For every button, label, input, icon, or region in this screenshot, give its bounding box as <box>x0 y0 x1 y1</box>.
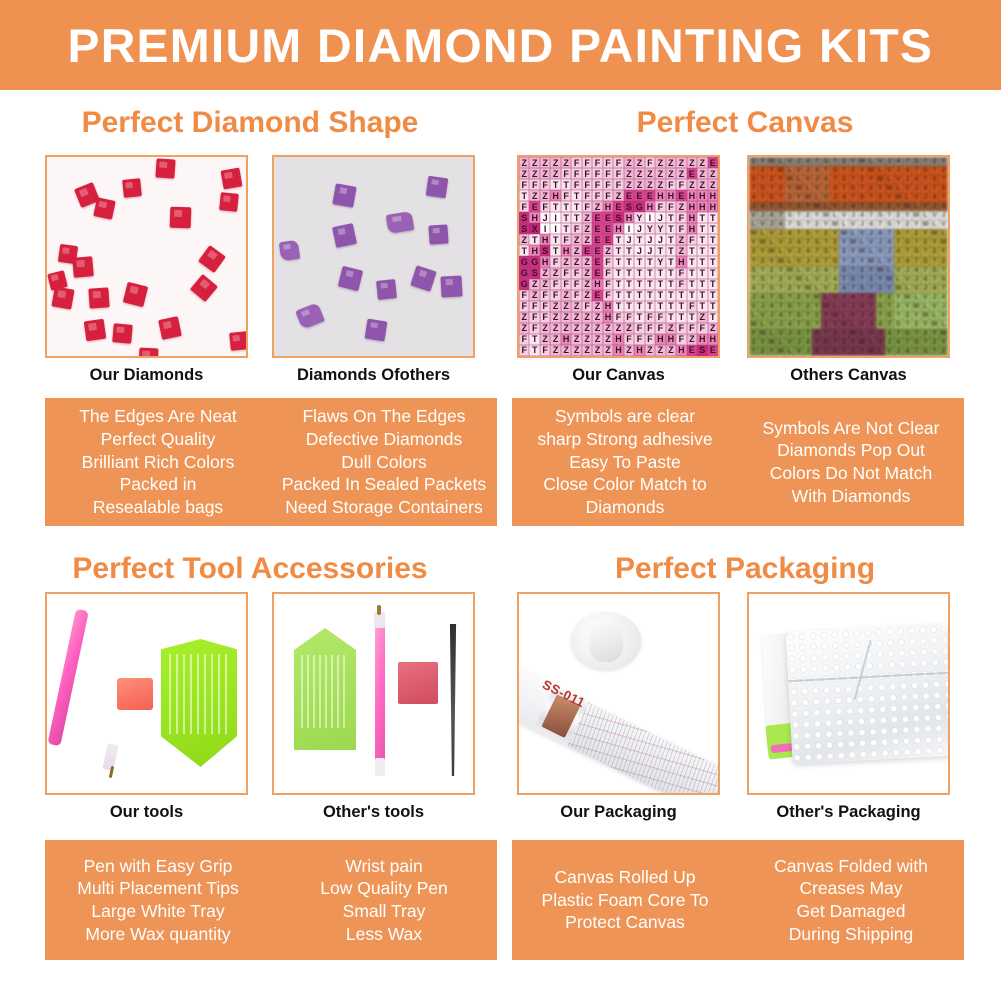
canvas-symbol-cell: S <box>912 338 921 347</box>
canvas-symbol-cell: F <box>571 157 581 168</box>
canvas-symbol-cell: T <box>708 268 718 279</box>
canvas-symbol-cell: 2 <box>930 157 939 166</box>
canvas-symbol-cell: L <box>794 266 803 275</box>
canvas-symbol-cell: 2 <box>785 284 794 293</box>
canvas-symbol-cell: 7 <box>803 238 812 247</box>
canvas-symbol-cell: H <box>613 345 623 356</box>
canvas-symbol-cell: Z <box>571 323 581 334</box>
canvas-symbol-cell: ? <box>767 184 776 193</box>
canvas-symbol-cell: H <box>708 201 718 212</box>
panel-line: Dull Colors <box>341 451 427 474</box>
canvas-symbol-cell: 2 <box>794 293 803 302</box>
canvas-symbol-cell: 2 <box>839 247 848 256</box>
canvas-symbol-cell: V <box>930 302 939 311</box>
canvas-symbol-cell: J <box>794 247 803 256</box>
canvas-symbol-cell: F <box>603 168 613 179</box>
canvas-symbol-cell: L <box>785 166 794 175</box>
canvas-symbol-cell: ? <box>839 257 848 266</box>
canvas-symbol-cell: T <box>624 268 634 279</box>
canvas-symbol-cell: F <box>603 268 613 279</box>
canvas-symbol-cell: ? <box>849 266 858 275</box>
panel-line: Get Damaged <box>797 900 906 923</box>
canvas-symbol-cell: S <box>912 247 921 256</box>
canvas-symbol-cell: 4 <box>903 257 912 266</box>
panel-line: With Diamonds <box>792 485 911 508</box>
canvas-symbol-cell: 7 <box>885 320 894 329</box>
canvas-symbol-cell: G <box>519 268 529 279</box>
canvas-symbol-cell: T <box>519 245 529 256</box>
canvas-symbol-cell: Y <box>776 175 785 184</box>
canvas-symbol-cell: F <box>676 223 686 234</box>
canvas-symbol-cell: 4 <box>885 238 894 247</box>
canvas-symbol-cell: Z <box>666 157 676 168</box>
canvas-symbol-cell: L <box>776 157 785 166</box>
canvas-symbol-cell: F <box>676 323 686 334</box>
canvas-symbol-cell: J <box>912 275 921 284</box>
canvas-symbol-cell: T <box>655 290 665 301</box>
canvas-symbol-cell: H <box>687 201 697 212</box>
canvas-symbol-cell: ? <box>894 311 903 320</box>
canvas-symbol-cell: T <box>645 268 655 279</box>
canvas-symbol-cell: 7 <box>912 347 921 356</box>
canvas-symbol-cell: Z <box>529 290 539 301</box>
canvas-symbol-cell: 7 <box>821 166 830 175</box>
canvas-symbol-cell: Y <box>749 238 758 247</box>
canvas-symbol-cell: ? <box>849 175 858 184</box>
canvas-symbol-cell: 2 <box>803 211 812 220</box>
tray-grooves <box>301 655 348 728</box>
canvas-symbol-cell: M <box>876 175 885 184</box>
canvas-symbol-cell: T <box>676 290 686 301</box>
canvas-symbol-cell: Y <box>939 157 948 166</box>
canvas-symbol-cell: M <box>776 347 785 356</box>
canvas-symbol-cell: Y <box>758 247 767 256</box>
canvas-symbol-cell: H <box>613 223 623 234</box>
canvas-symbol-cell: F <box>529 301 539 312</box>
canvas-symbol-cell: V <box>749 211 758 220</box>
panel-line: Brilliant Rich Colors <box>82 451 235 474</box>
canvas-symbol-cell: Z <box>603 345 613 356</box>
canvas-symbol-cell: T <box>697 256 707 267</box>
canvas-symbol-cell: 7 <box>794 229 803 238</box>
canvas-symbol-cell: F <box>592 179 602 190</box>
canvas-symbol-cell: Z <box>687 334 697 345</box>
canvas-symbol-cell: Z <box>571 256 581 267</box>
canvas-symbol-cell: H <box>708 190 718 201</box>
canvas-symbol-cell: Y <box>867 175 876 184</box>
canvas-symbol-cell: Z <box>540 168 550 179</box>
canvas-symbol-cell: H <box>687 190 697 201</box>
panel-line: Resealable bags <box>93 496 223 519</box>
tweezers <box>446 624 460 776</box>
canvas-symbol-cell: H <box>529 245 539 256</box>
canvas-symbol-cell: T <box>697 212 707 223</box>
canvas-symbol-cell: L <box>885 175 894 184</box>
canvas-symbol-cell: F <box>561 234 571 245</box>
canvas-symbol-cell: Z <box>550 268 560 279</box>
canvas-symbol-cell: F <box>571 179 581 190</box>
pink-pen <box>375 624 385 764</box>
panel-line: The Edges Are Neat <box>79 405 237 428</box>
canvas-symbol-cell: T <box>655 268 665 279</box>
canvas-symbol-cell: 4 <box>912 266 921 275</box>
canvas-symbol-cell: V <box>885 347 894 356</box>
photo-other-packaging <box>747 592 950 795</box>
panel-line: Diamonds <box>586 496 665 519</box>
canvas-symbol-cell: 7 <box>794 320 803 329</box>
canvas-symbol-cell: S <box>785 211 794 220</box>
canvas-symbol-cell: T <box>708 212 718 223</box>
canvas-symbol-cell: F <box>592 168 602 179</box>
canvas-symbol-cell: T <box>655 245 665 256</box>
panel-diamond-ours: The Edges Are Neat Perfect Quality Brill… <box>45 398 271 526</box>
canvas-symbol-cell: M <box>912 211 921 220</box>
canvas-symbol-cell: M <box>849 238 858 247</box>
canvas-symbol-cell: Z <box>676 157 686 168</box>
canvas-symbol-cell: 7 <box>921 175 930 184</box>
canvas-symbol-cell: T <box>634 312 644 323</box>
canvas-symbol-cell: 2 <box>885 202 894 211</box>
canvas-symbol-cell: S <box>903 238 912 247</box>
canvas-symbol-cell: 2 <box>803 302 812 311</box>
canvas-symbol-cell: 4 <box>794 238 803 247</box>
canvas-symbol-cell: Y <box>885 284 894 293</box>
canvas-symbol-cell: J <box>785 238 794 247</box>
caption-our-tools: Our tools <box>45 803 248 822</box>
canvas-symbol-cell: 7 <box>785 220 794 229</box>
canvas-symbol-cell: V <box>894 175 903 184</box>
canvas-symbol-cell: I <box>624 223 634 234</box>
canvas-symbol-cell: F <box>676 279 686 290</box>
canvas-symbol-cell: F <box>519 345 529 356</box>
canvas-symbol-cell: S <box>794 220 803 229</box>
canvas-symbol-cell: J <box>939 211 948 220</box>
canvas-symbol-cell: T <box>666 268 676 279</box>
canvas-symbol-cell: L <box>785 347 794 356</box>
canvas-symbol-cell: Z <box>624 179 634 190</box>
canvas-symbol-cell: H <box>592 279 602 290</box>
bubble-mailer-envelope <box>786 624 948 764</box>
canvas-symbol-cell: V <box>803 175 812 184</box>
canvas-symbol-cell: F <box>645 157 655 168</box>
canvas-symbol-cell: 2 <box>849 257 858 266</box>
canvas-symbol-cell: T <box>708 312 718 323</box>
canvas-symbol-cell: H <box>634 345 644 356</box>
canvas-symbol-cell: 2 <box>776 275 785 284</box>
canvas-symbol-cell: V <box>867 329 876 338</box>
panel-line: Colors Do Not Match <box>770 462 932 485</box>
canvas-symbol-cell: T <box>634 279 644 290</box>
canvas-symbol-cell: V <box>830 202 839 211</box>
canvas-symbol-cell: 2 <box>930 338 939 347</box>
canvas-symbol-cell: T <box>697 223 707 234</box>
canvas-symbol-cell: 7 <box>903 247 912 256</box>
canvas-symbol-cell: Z <box>582 212 592 223</box>
canvas-symbol-cell: Z <box>571 312 581 323</box>
canvas-symbol-cell: Z <box>655 345 665 356</box>
canvas-symbol-cell: S <box>921 347 930 356</box>
canvas-symbol-cell: 7 <box>830 175 839 184</box>
canvas-symbol-cell: Y <box>821 220 830 229</box>
canvas-symbol-cell: ? <box>921 157 930 166</box>
canvas-symbol-cell: L <box>776 338 785 347</box>
canvas-symbol-cell: F <box>613 157 623 168</box>
canvas-symbol-cell: J <box>749 202 758 211</box>
canvas-symbol-cell: Z <box>676 168 686 179</box>
canvas-symbol-cell: M <box>903 202 912 211</box>
canvas-symbol-cell: S <box>921 166 930 175</box>
canvas-symbol-cell: J <box>767 311 776 320</box>
canvas-symbol-cell: F <box>634 323 644 334</box>
canvas-symbol-cell: 4 <box>776 311 785 320</box>
canvas-symbol-cell: V <box>803 266 812 275</box>
bubble-mailer-art <box>749 594 948 793</box>
canvas-symbol-cell: Z <box>561 290 571 301</box>
canvas-symbol-cell: T <box>613 245 623 256</box>
canvas-symbol-cell: ? <box>885 211 894 220</box>
canvas-symbol-cell: G <box>529 256 539 267</box>
canvas-symbol-cell: L <box>894 184 903 193</box>
canvas-symbol-cell: F <box>697 323 707 334</box>
canvas-symbol-cell: ? <box>749 166 758 175</box>
panel-line: Flaws On The Edges <box>302 405 465 428</box>
canvas-symbol-cell: L <box>912 202 921 211</box>
canvas-symbol-cell: L <box>876 347 885 356</box>
canvas-symbol-cell: 4 <box>767 302 776 311</box>
canvas-symbol-cell: S <box>858 193 867 202</box>
green-tray-small <box>294 628 356 750</box>
canvas-symbol-cell: ? <box>876 293 885 302</box>
photo-our-tools <box>45 592 248 795</box>
canvas-symbol-cell: L <box>921 211 930 220</box>
canvas-symbol-cell: 7 <box>939 193 948 202</box>
canvas-symbol-cell: F <box>603 179 613 190</box>
canvas-symbol-cell: Y <box>830 229 839 238</box>
canvas-symbol-cell: ? <box>885 302 894 311</box>
canvas-symbol-cell: J <box>867 229 876 238</box>
canvas-symbol-cell: 4 <box>939 293 948 302</box>
canvas-symbol-cell: J <box>912 184 921 193</box>
canvas-symbol-cell: 2 <box>939 347 948 356</box>
canvas-symbol-cell: Y <box>785 275 794 284</box>
canvas-symbol-cell: ? <box>749 257 758 266</box>
canvas-symbol-cell: H <box>676 345 686 356</box>
canvas-symbol-cell: J <box>785 329 794 338</box>
panel-line: Protect Canvas <box>565 911 685 934</box>
other-tools-art <box>274 594 473 793</box>
canvas-symbol-cell: Z <box>666 323 676 334</box>
canvas-symbol-cell: M <box>776 166 785 175</box>
canvas-symbol-cell: M <box>803 284 812 293</box>
canvas-symbol-cell: E <box>708 157 718 168</box>
panel-line: More Wax quantity <box>85 923 230 946</box>
canvas-symbol-cell: J <box>624 234 634 245</box>
canvas-symbol-cell: 2 <box>821 229 830 238</box>
canvas-symbol-cell: H <box>540 234 550 245</box>
canvas-symbol-cell: V <box>912 284 921 293</box>
canvas-symbol-cell: Y <box>655 256 665 267</box>
panel-diamond-theirs: Flaws On The Edges Defective Diamonds Du… <box>271 398 497 526</box>
canvas-symbol-cell: Z <box>571 234 581 245</box>
canvas-symbol-cell: Z <box>550 312 560 323</box>
panel-line: Small Tray <box>343 900 426 923</box>
canvas-symbol-cell: J <box>894 347 903 356</box>
panel-line: Close Color Match to <box>543 473 706 496</box>
canvas-symbol-cell: J <box>858 311 867 320</box>
panel-line: Packed in <box>120 473 197 496</box>
canvas-symbol-cell: 7 <box>939 284 948 293</box>
canvas-symbol-cell: T <box>561 212 571 223</box>
canvas-symbol-cell: T <box>634 268 644 279</box>
tube-cap-inner <box>589 620 623 662</box>
canvas-symbol-cell: ? <box>776 284 785 293</box>
canvas-symbol-cell: F <box>603 256 613 267</box>
canvas-symbol-cell: E <box>603 223 613 234</box>
canvas-symbol-cell: T <box>624 245 634 256</box>
canvas-symbol-cell: 4 <box>776 220 785 229</box>
canvas-symbol-cell: 4 <box>930 193 939 202</box>
canvas-symbol-cell: H <box>655 334 665 345</box>
canvas-symbol-cell: Z <box>708 179 718 190</box>
canvas-symbol-cell: Y <box>867 266 876 275</box>
canvas-symbol-cell: L <box>921 302 930 311</box>
canvas-symbol-cell: 4 <box>876 320 885 329</box>
canvas-symbol-cell: T <box>624 256 634 267</box>
canvas-symbol-cell: T <box>687 279 697 290</box>
panel-canvas-theirs: Symbols Are Not Clear Diamonds Pop Out C… <box>738 398 964 526</box>
canvas-symbol-cell: F <box>571 290 581 301</box>
canvas-symbol-cell: J <box>830 284 839 293</box>
canvas-symbol-cell: V <box>885 166 894 175</box>
canvas-symbol-cell: M <box>785 266 794 275</box>
canvas-symbol-cell: Y <box>794 193 803 202</box>
canvas-symbol-cell: 4 <box>894 157 903 166</box>
canvas-symbol-cell: Y <box>821 311 830 320</box>
canvas-symbol-cell: H <box>687 212 697 223</box>
canvas-symbol-cell: V <box>758 220 767 229</box>
canvas-symbol-cell: H <box>540 256 550 267</box>
canvas-symbol-cell: 4 <box>803 338 812 347</box>
canvas-symbol-cell: Y <box>930 238 939 247</box>
canvas-symbol-cell: ? <box>758 266 767 275</box>
canvas-symbol-cell: 2 <box>758 166 767 175</box>
canvas-symbol-cell: Z <box>550 157 560 168</box>
caption-others-canvas: Others Canvas <box>747 366 950 385</box>
canvas-symbol-cell: ? <box>867 193 876 202</box>
canvas-symbol-cell: T <box>634 290 644 301</box>
canvas-symbol-cell: Y <box>921 320 930 329</box>
canvas-symbol-cell: 2 <box>930 247 939 256</box>
canvas-symbol-cell: 2 <box>776 184 785 193</box>
canvas-symbol-cell: Z <box>624 157 634 168</box>
canvas-symbol-cell: Z <box>550 301 560 312</box>
canvas-symbol-cell: ? <box>939 266 948 275</box>
canvas-symbol-cell: V <box>821 193 830 202</box>
canvas-symbol-cell: S <box>613 212 623 223</box>
canvas-symbol-cell: 2 <box>876 193 885 202</box>
canvas-symbol-cell: Y <box>939 338 948 347</box>
canvas-symbol-cell: J <box>645 245 655 256</box>
canvas-symbol-cell: T <box>666 290 676 301</box>
canvas-symbol-cell: L <box>876 166 885 175</box>
canvas-symbol-cell: V <box>749 302 758 311</box>
canvas-symbol-cell: V <box>776 238 785 247</box>
red-drills-art <box>47 157 246 356</box>
canvas-symbol-cell: S <box>803 320 812 329</box>
canvas-symbol-cell: ? <box>930 347 939 356</box>
canvas-symbol-cell: T <box>529 234 539 245</box>
canvas-symbol-cell: T <box>697 245 707 256</box>
canvas-symbol-cell: 2 <box>921 329 930 338</box>
canvas-symbol-cell: L <box>894 275 903 284</box>
canvas-symbol-cell: Y <box>903 211 912 220</box>
canvas-symbol-cell: E <box>592 212 602 223</box>
canvas-symbol-cell: 2 <box>749 157 758 166</box>
caption-our-diamonds: Our Diamonds <box>45 366 248 385</box>
canvas-symbol-cell: S <box>876 302 885 311</box>
canvas-symbol-cell: V <box>785 157 794 166</box>
canvas-symbol-cell: ? <box>830 338 839 347</box>
canvas-symbol-cell: Z <box>624 323 634 334</box>
canvas-symbol-cell: Y <box>830 320 839 329</box>
canvas-symbol-cell: S <box>776 293 785 302</box>
panel-line: Canvas Rolled Up <box>554 866 695 889</box>
canvas-symbol-cell: Y <box>803 293 812 302</box>
canvas-symbol-cell: Z <box>687 179 697 190</box>
canvas-symbol-cell: F <box>519 179 529 190</box>
canvas-symbol-cell: S <box>821 247 830 256</box>
canvas-symbol-cell: M <box>785 175 794 184</box>
canvas-symbol-cell: I <box>540 223 550 234</box>
panel-line: sharp Strong adhesive <box>537 428 712 451</box>
canvas-symbol-cell: H <box>550 190 560 201</box>
canvas-symbol-cell: V <box>794 347 803 356</box>
panel-packaging-theirs: Canvas Folded with Creases May Get Damag… <box>738 840 964 960</box>
canvas-symbol-cell: F <box>676 334 686 345</box>
canvas-symbol-cell: 2 <box>785 193 794 202</box>
canvas-symbol-cell: T <box>519 190 529 201</box>
canvas-symbol-cell: 7 <box>776 211 785 220</box>
canvas-symbol-cell: ? <box>830 157 839 166</box>
canvas-symbol-cell: V <box>812 275 821 284</box>
canvas-symbol-cell: M <box>767 157 776 166</box>
panel-tools-theirs: Wrist pain Low Quality Pen Small Tray Le… <box>271 840 497 960</box>
canvas-symbol-cell: F <box>540 301 550 312</box>
panel-line: Packed In Sealed Packets <box>282 473 486 496</box>
canvas-symbol-cell: S <box>939 184 948 193</box>
canvas-symbol-cell: Z <box>592 301 602 312</box>
canvas-symbol-cell: F <box>519 334 529 345</box>
canvas-symbol-cell: M <box>867 257 876 266</box>
canvas-symbol-cell: J <box>839 202 848 211</box>
canvas-symbol-cell: S <box>519 223 529 234</box>
canvas-symbol-cell: T <box>624 279 634 290</box>
canvas-symbol-cell: Y <box>767 166 776 175</box>
wax-square <box>117 678 153 710</box>
canvas-symbol-cell: H <box>697 201 707 212</box>
canvas-symbol-cell: Z <box>708 323 718 334</box>
canvas-symbol-cell: F <box>582 201 592 212</box>
canvas-symbol-cell: S <box>830 257 839 266</box>
canvas-symbol-cell: T <box>624 290 634 301</box>
canvas-symbol-cell: T <box>613 234 623 245</box>
canvas-symbol-cell: 7 <box>776 302 785 311</box>
caption-other-packaging: Other's Packaging <box>747 803 950 822</box>
canvas-symbol-cell: T <box>561 201 571 212</box>
canvas-symbol-cell: V <box>767 229 776 238</box>
canvas-symbol-cell: Z <box>592 334 602 345</box>
canvas-symbol-cell: M <box>921 220 930 229</box>
